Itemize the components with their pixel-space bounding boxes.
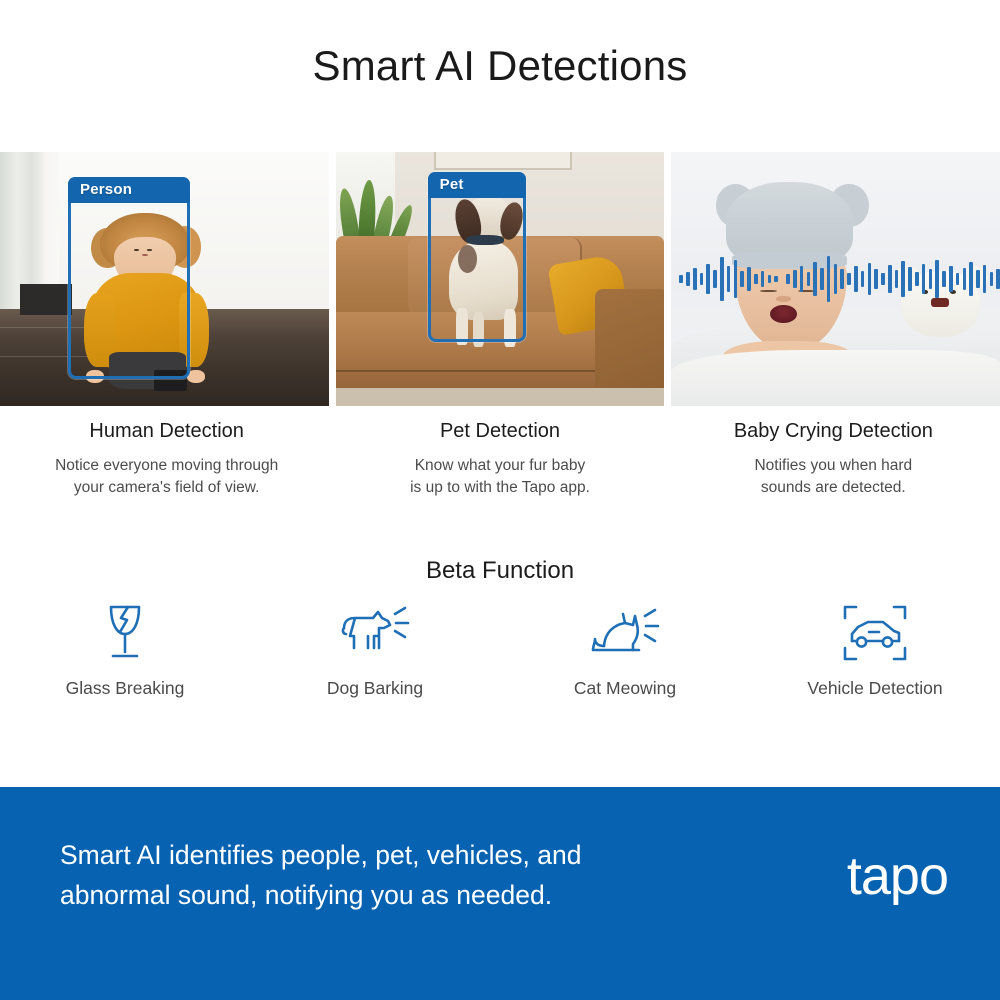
waveform-bar: [747, 267, 751, 291]
panel-pet-detection: Pet: [336, 152, 665, 406]
panel-2-floor: [336, 388, 665, 406]
caption-body-line2: is up to with the Tapo app.: [410, 479, 590, 496]
panel-human-detection: Person: [0, 152, 329, 406]
waveform-bar: [713, 270, 717, 288]
waveform-bar: [754, 274, 758, 284]
beta-function-row: Glass Breaking Dog Barking: [0, 600, 1000, 699]
waveform-bar: [693, 268, 697, 290]
waveform-bar: [942, 271, 946, 287]
infographic-page: Smart AI Detections: [0, 0, 1000, 1000]
caption-heading: Pet Detection: [333, 420, 666, 443]
beta-function-title: Beta Function: [0, 557, 1000, 585]
meowing-cat-icon: [589, 600, 661, 666]
caption-human-detection: Human Detection Notice everyone moving t…: [0, 420, 333, 500]
detection-panels-row: Person: [0, 152, 1000, 406]
panel-1-baseboard: [20, 284, 73, 314]
waveform-bar: [786, 274, 790, 284]
waveform-bar: [976, 270, 980, 288]
waveform-bar: [949, 266, 953, 292]
waveform-bar: [983, 265, 987, 293]
waveform-bar: [734, 260, 738, 298]
waveform-bar: [854, 266, 858, 292]
caption-heading: Human Detection: [0, 420, 333, 443]
panel-baby-crying-detection: [671, 152, 1000, 406]
waveform-bar: [963, 268, 967, 290]
caption-baby-crying-detection: Baby Crying Detection Notifies you when …: [667, 420, 1000, 500]
caption-body-line2: sounds are detected.: [761, 479, 906, 496]
beta-item-label: Dog Barking: [327, 678, 423, 699]
panel-2-sofa-arm: [595, 289, 664, 401]
waveform-bar: [727, 266, 731, 292]
banner-line2: abnormal sound, notifying you as needed.: [60, 880, 552, 910]
caption-heading: Baby Crying Detection: [667, 420, 1000, 443]
detection-label-pet: Pet: [428, 172, 526, 198]
waveform-bar: [800, 266, 804, 292]
beta-item-label: Glass Breaking: [66, 678, 185, 699]
detection-box-pet: Pet: [428, 172, 526, 342]
panel-3-blanket: [671, 350, 1000, 406]
waveform-bar: [679, 275, 683, 283]
waveform-bar: [990, 272, 994, 286]
waveform-bar: [908, 267, 912, 291]
banner-line1: Smart AI identifies people, pet, vehicle…: [60, 840, 581, 870]
beta-item-dog-barking[interactable]: Dog Barking: [250, 600, 500, 699]
barking-dog-icon: [338, 600, 412, 666]
caption-body-line2: your camera's field of view.: [74, 479, 260, 496]
caption-body: Notice everyone moving through your came…: [0, 455, 333, 500]
audio-waveform-left: [679, 257, 778, 301]
waveform-bar: [901, 261, 905, 297]
beta-item-glass-breaking[interactable]: Glass Breaking: [0, 600, 250, 699]
waveform-bar: [768, 275, 772, 283]
caption-body: Know what your fur baby is up to with th…: [333, 455, 666, 500]
car-in-focus-frame-icon: [842, 600, 908, 666]
detection-label-person: Person: [68, 177, 190, 203]
waveform-bar: [922, 264, 926, 294]
waveform-bar: [827, 256, 831, 302]
waveform-bar: [840, 269, 844, 289]
caption-body: Notifies you when hard sounds are detect…: [667, 455, 1000, 500]
caption-body-line1: Notifies you when hard: [754, 457, 912, 474]
beta-item-label: Cat Meowing: [574, 678, 676, 699]
waveform-bar: [969, 262, 973, 296]
caption-body-line1: Know what your fur baby: [415, 457, 586, 474]
waveform-bar: [847, 273, 851, 285]
waveform-bar: [929, 269, 933, 289]
audio-waveform-right: [786, 256, 1000, 302]
beta-item-cat-meowing[interactable]: Cat Meowing: [500, 600, 750, 699]
waveform-bar: [861, 271, 865, 287]
caption-pet-detection: Pet Detection Know what your fur baby is…: [333, 420, 666, 500]
waveform-bar: [774, 276, 778, 282]
waveform-bar: [895, 270, 899, 288]
waveform-bar: [888, 265, 892, 293]
banner-text: Smart AI identifies people, pet, vehicle…: [60, 835, 700, 916]
waveform-bar: [700, 273, 704, 285]
tapo-logo: tapo: [847, 845, 948, 907]
waveform-bar: [956, 273, 960, 285]
beta-item-vehicle-detection[interactable]: Vehicle Detection: [750, 600, 1000, 699]
caption-body-line1: Notice everyone moving through: [55, 457, 278, 474]
waveform-bar: [706, 264, 710, 294]
waveform-bar: [868, 263, 872, 295]
panel-2-picture-frame: [434, 152, 572, 170]
waveform-bar: [996, 269, 1000, 289]
waveform-bar: [740, 271, 744, 287]
waveform-bar: [820, 268, 824, 290]
waveform-bar: [881, 273, 885, 285]
waveform-bar: [935, 260, 939, 298]
waveform-bar: [686, 272, 690, 286]
waveform-bar: [874, 269, 878, 289]
beta-item-label: Vehicle Detection: [807, 678, 942, 699]
waveform-bar: [915, 272, 919, 286]
waveform-bar: [761, 271, 765, 287]
detection-box-person: Person: [68, 177, 190, 379]
waveform-bar: [834, 264, 838, 294]
waveform-bar: [807, 272, 811, 286]
bottom-banner: Smart AI identifies people, pet, vehicle…: [0, 787, 1000, 1000]
waveform-bar: [813, 262, 817, 296]
panel-captions-row: Human Detection Notice everyone moving t…: [0, 420, 1000, 500]
waveform-bar: [793, 270, 797, 288]
broken-wine-glass-icon: [100, 600, 150, 666]
page-title: Smart AI Detections: [0, 42, 1000, 90]
waveform-bar: [720, 257, 724, 301]
